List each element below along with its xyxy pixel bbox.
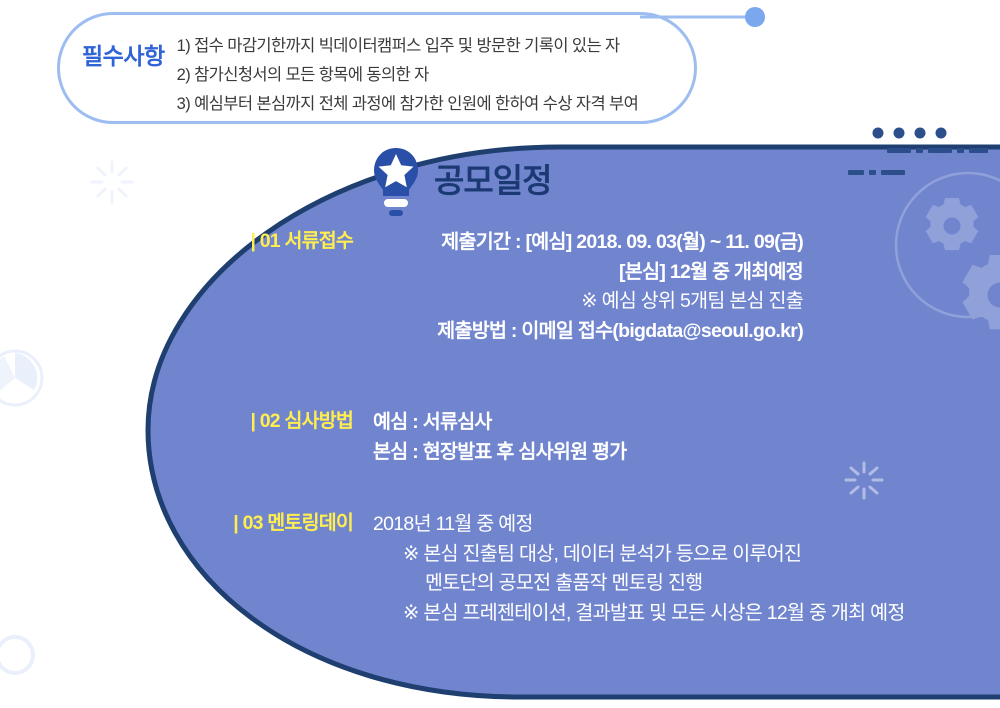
schedule-line: 2018년 11월 중 예정	[373, 510, 933, 540]
schedule-block-03-body: 2018년 11월 중 예정 ※ 본심 진출팀 대상, 데이터 분석가 등으로 …	[373, 510, 933, 629]
label-number: 01	[260, 230, 280, 252]
schedule-header: 공모일정	[372, 146, 551, 218]
poster-canvas: 필수사항 1) 접수 마감기한까지 빅데이터캠퍼스 입주 및 방문한 기록이 있…	[0, 0, 1000, 708]
lightbulb-star-icon	[372, 146, 420, 218]
schedule-note: 멘토단의 공모전 출품작 멘토링 진행	[373, 569, 933, 599]
schedule-block-01-body: 제출기간 : [예심] 2018. 09. 03(월) ~ 11. 09(금) …	[373, 228, 803, 347]
schedule-block-03: | 03 멘토링데이 2018년 11월 중 예정 ※ 본심 진출팀 대상, 데…	[203, 510, 933, 629]
schedule-line: [본심] 12월 중 개최예정	[373, 258, 803, 288]
label-number: 02	[260, 410, 280, 432]
schedule-line: 제출기간 : [예심] 2018. 09. 03(월) ~ 11. 09(금)	[373, 228, 803, 258]
schedule-note: ※ 예심 상위 5개팀 본심 진출	[373, 287, 803, 317]
schedule-line: 본심 : 현장발표 후 심사위원 평가	[373, 438, 803, 468]
label-bar: |	[250, 228, 255, 254]
schedule-line: 예심 : 서류심사	[373, 408, 803, 438]
label-text: 멘토링데이	[267, 512, 353, 534]
schedule-panel: 공모일정 | 01 서류접수 제출기간 : [예심] 2018. 09. 03(…	[0, 0, 1000, 708]
schedule-block-02: | 02 심사방법 예심 : 서류심사 본심 : 현장발표 후 심사위원 평가	[203, 408, 803, 467]
label-number: 03	[243, 512, 263, 534]
schedule-block-02-body: 예심 : 서류심사 본심 : 현장발표 후 심사위원 평가	[373, 408, 803, 467]
label-text: 심사방법	[284, 410, 353, 432]
label-bar: |	[250, 408, 255, 434]
schedule-block-02-label: | 02 심사방법	[203, 408, 353, 434]
schedule-note: ※ 본심 진출팀 대상, 데이터 분석가 등으로 이루어진	[373, 540, 933, 570]
schedule-title: 공모일정	[434, 164, 551, 200]
schedule-block-01-label: | 01 서류접수	[203, 228, 353, 254]
label-text: 서류접수	[284, 230, 353, 252]
label-bar: |	[233, 510, 238, 536]
schedule-line: 제출방법 : 이메일 접수(bigdata@seoul.go.kr)	[373, 317, 803, 347]
schedule-block-03-label: | 03 멘토링데이	[203, 510, 353, 536]
schedule-block-01: | 01 서류접수 제출기간 : [예심] 2018. 09. 03(월) ~ …	[203, 228, 803, 347]
schedule-note: ※ 본심 프레젠테이션, 결과발표 및 모든 시상은 12월 중 개최 예정	[373, 599, 933, 629]
